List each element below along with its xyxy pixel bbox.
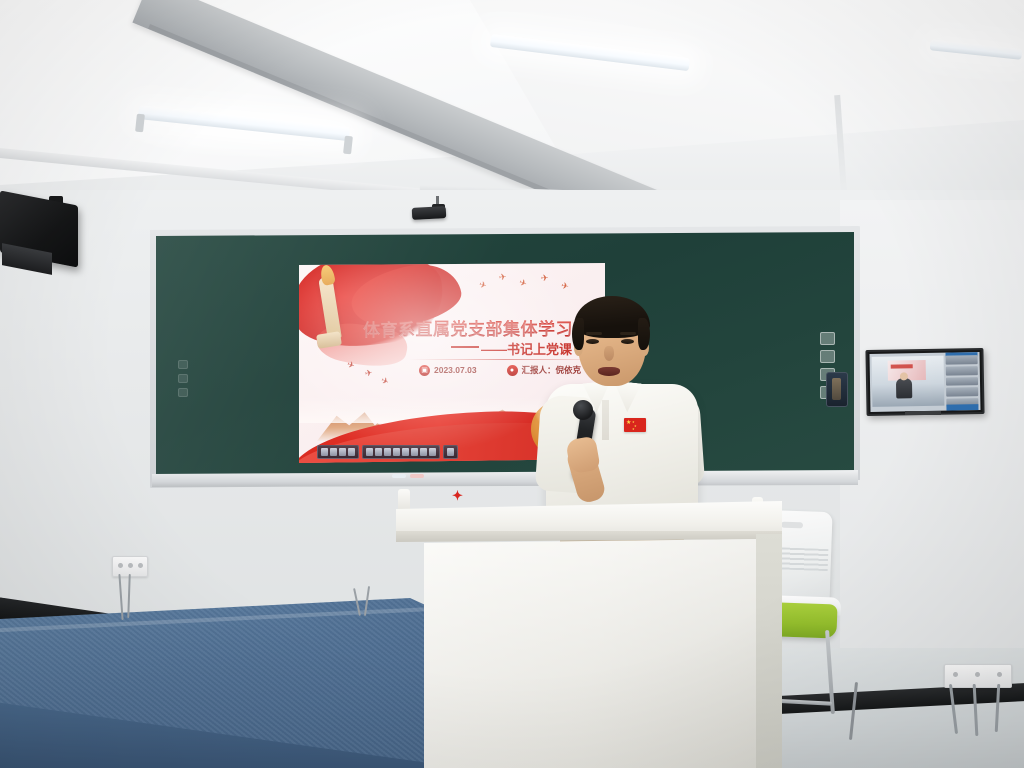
slide-date-item: ▣ 2023.07.03 <box>419 365 477 376</box>
chinese-flag-patch: ★ ★ ★ ★ <box>624 418 646 432</box>
bird-icon: ✈ <box>478 280 488 291</box>
board-sticker <box>820 350 835 363</box>
toolbar-icon[interactable] <box>411 448 418 456</box>
flag-star-icon: ★ <box>626 420 631 426</box>
podium-logo: ✦ <box>452 489 472 503</box>
toolbar-group-2[interactable] <box>362 445 440 459</box>
bird-icon: ✈ <box>498 273 507 283</box>
podium-logo-icon: ✦ <box>452 489 472 503</box>
toolbar-group-3[interactable] <box>443 445 458 459</box>
slide-date: 2023.07.03 <box>434 365 477 375</box>
ceiling <box>0 0 1024 215</box>
bird-icon: ✈ <box>364 368 373 378</box>
toolbar-icon[interactable] <box>330 448 337 456</box>
eyebrow-right <box>620 332 636 335</box>
board-sticker-group-left <box>178 360 194 428</box>
monitor-thumbnail <box>946 355 978 364</box>
powerpoint-floating-toolbar[interactable] <box>317 444 458 459</box>
monitor-main-view <box>872 356 945 407</box>
chalk-piece <box>410 474 424 478</box>
toolbar-icon[interactable] <box>348 448 355 456</box>
monitor-thumbnail <box>946 377 978 386</box>
hair-side-right <box>638 318 650 350</box>
toolbar-icon[interactable] <box>366 448 373 456</box>
eye-left <box>586 339 599 344</box>
socket-hole <box>953 672 958 677</box>
ceiling-camera-icon <box>412 206 447 220</box>
flag-star-icon: ★ <box>632 426 635 432</box>
podium-left-lip <box>398 489 410 511</box>
nose <box>604 346 614 361</box>
socket-hole <box>975 672 980 677</box>
socket-hole <box>128 563 133 568</box>
chair-handle-slot <box>781 522 803 529</box>
eye-right <box>621 339 634 344</box>
toolbar-icon[interactable] <box>321 448 328 456</box>
board-sticker <box>178 360 188 369</box>
toolbar-icon[interactable] <box>375 448 382 456</box>
bird-icon: ✈ <box>518 278 528 289</box>
subtitle-dash <box>451 346 479 348</box>
board-control-panel[interactable] <box>826 372 848 407</box>
bird-icon: ✈ <box>346 360 356 371</box>
chalk-piece <box>392 474 406 478</box>
eyebrow-left <box>586 332 602 335</box>
speaker-presenter: ★ ★ ★ ★ <box>536 296 736 522</box>
wall-socket-right[interactable] <box>944 664 1012 688</box>
microphone-icon: ● <box>507 365 518 376</box>
right-wall <box>840 200 1024 670</box>
hair-side-left <box>572 318 584 350</box>
monitor-mount <box>905 411 941 415</box>
board-sticker <box>178 388 188 397</box>
monitor-person-figure <box>896 378 912 398</box>
toolbar-group-1[interactable] <box>317 445 359 459</box>
toolbar-icon[interactable] <box>393 448 400 456</box>
monitor-statusbar <box>946 404 978 411</box>
classroom-photo-scene: ✈ ✈ ✈ ✈ ✈ ✈ ✈ ✈ 体育系直属党支部集体学习会议 ——书记上党课 ▣… <box>0 0 1024 768</box>
toolbar-icon[interactable] <box>339 448 346 456</box>
monitor-thumbnail <box>946 366 978 375</box>
toolbar-icon[interactable] <box>447 448 454 456</box>
shirt-placket <box>602 400 609 440</box>
mouth <box>598 367 620 376</box>
monitor-screen <box>870 352 981 412</box>
lectern-shading <box>424 539 760 768</box>
lectern-side-panel <box>756 534 782 768</box>
toolbar-icon[interactable] <box>420 448 427 456</box>
socket-hole <box>118 563 123 568</box>
calendar-icon: ▣ <box>419 365 430 376</box>
socket-hole <box>997 672 1002 677</box>
board-sticker <box>178 374 188 383</box>
board-sticker <box>820 332 835 345</box>
toolbar-icon[interactable] <box>429 448 436 456</box>
monitor-thumbnail <box>946 387 978 396</box>
socket-hole <box>138 563 143 568</box>
bird-icon: ✈ <box>541 274 549 284</box>
monitor-thumbnail-strip <box>946 355 979 408</box>
toolbar-icon[interactable] <box>402 448 409 456</box>
bird-icon: ✈ <box>560 281 569 291</box>
toolbar-icon[interactable] <box>384 448 391 456</box>
wall-monitor[interactable] <box>865 348 984 416</box>
